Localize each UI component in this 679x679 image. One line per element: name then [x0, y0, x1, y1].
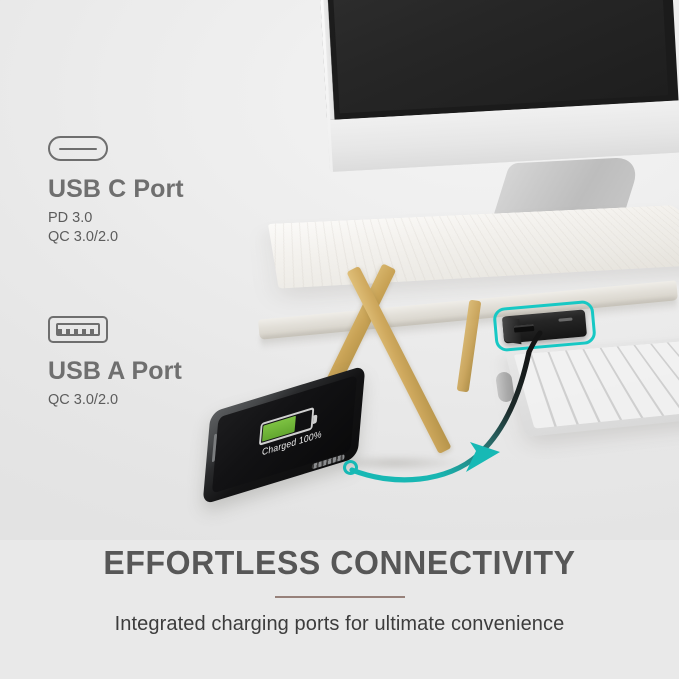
- caption-divider: [275, 596, 405, 598]
- usb-a-port-icon: [48, 316, 108, 343]
- feature-spec-usb-a-qc: QC 3.0/2.0: [48, 392, 182, 408]
- feature-spec-usb-c-pd: PD 3.0: [48, 210, 184, 226]
- usb-c-port-icon: [48, 136, 108, 161]
- cable-path: [352, 352, 529, 480]
- caption-headline: EFFORTLESS CONNECTIVITY: [10, 544, 669, 582]
- charging-cable-graphic: [0, 0, 679, 540]
- feature-usb-a-port: USB A Port QC 3.0/2.0: [48, 316, 182, 408]
- caption-block: EFFORTLESS CONNECTIVITY Integrated charg…: [0, 544, 679, 636]
- feature-spec-usb-c-qc: QC 3.0/2.0: [48, 229, 184, 245]
- feature-title-usb-c: USB C Port: [48, 175, 184, 204]
- usb-a-icon-contacts: [56, 323, 100, 336]
- cable-path-upper: [529, 333, 540, 352]
- product-feature-image: Charged 100%: [0, 0, 679, 679]
- caption-subtitle: Integrated charging ports for ultimate c…: [0, 613, 679, 636]
- feature-usb-c-port: USB C Port PD 3.0 QC 3.0/2.0: [48, 136, 184, 245]
- charge-direction-arrow: [466, 442, 500, 472]
- feature-title-usb-a: USB A Port: [48, 357, 182, 386]
